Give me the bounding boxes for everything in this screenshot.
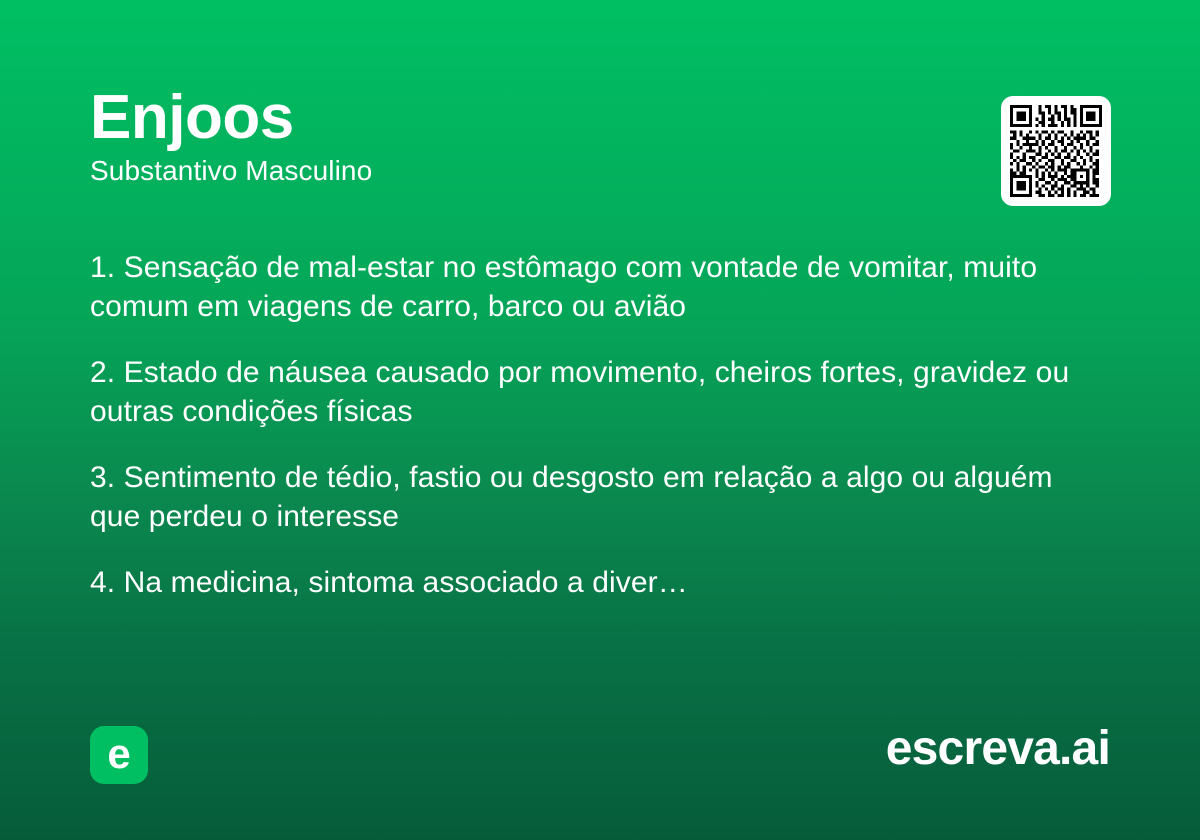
word-definition-card: Enjoos Substantivo Masculino (0, 0, 1200, 840)
definition-list: 1. Sensação de mal-estar no estômago com… (90, 248, 1100, 602)
list-item: 1. Sensação de mal-estar no estômago com… (90, 248, 1100, 326)
card-header: Enjoos Substantivo Masculino (90, 86, 950, 187)
list-item: 2. Estado de náusea causado por moviment… (90, 353, 1100, 431)
brand-logo: e (90, 726, 148, 784)
brand-wordmark: escreva.ai (886, 718, 1110, 780)
page-title: Enjoos (90, 86, 950, 149)
list-item: 3. Sentimento de tédio, fastio ou desgos… (90, 458, 1100, 536)
word-class-label: Substantivo Masculino (90, 155, 950, 187)
list-item: 4. Na medicina, sintoma associado a dive… (90, 563, 1100, 602)
brand-logo-letter: e (90, 726, 148, 784)
qr-code-icon[interactable] (1001, 96, 1111, 206)
